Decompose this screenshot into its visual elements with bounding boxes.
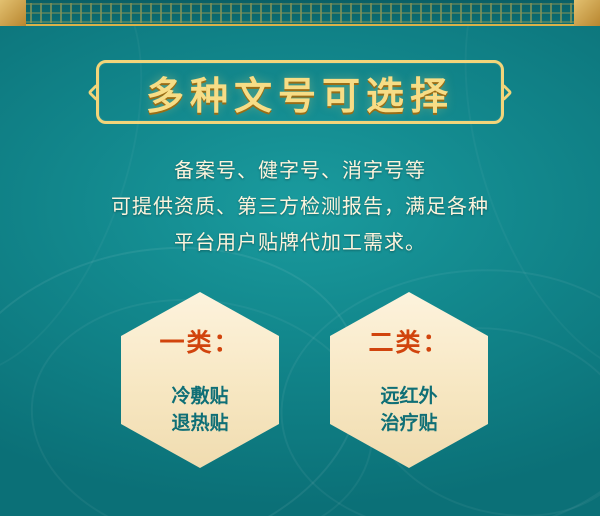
description-line-1: 备案号、健字号、消字号等	[40, 152, 560, 188]
border-pattern-icon	[0, 3, 600, 23]
border-corner-right-icon	[574, 0, 600, 26]
category-card-two-item-1: 远红外	[380, 383, 437, 410]
category-card-one: 一类： 冷敷贴 退热贴	[121, 292, 279, 468]
description-block: 备案号、健字号、消字号等 可提供资质、第三方检测报告，满足各种 平台用户贴牌代加…	[40, 152, 560, 260]
description-line-2: 可提供资质、第三方检测报告，满足各种	[40, 188, 560, 224]
category-card-one-item-2: 退热贴	[171, 410, 228, 437]
border-corner-left-icon	[0, 0, 26, 26]
poster-canvas: 多种文号可选择 备案号、健字号、消字号等 可提供资质、第三方检测报告，满足各种 …	[0, 0, 600, 516]
page-title: 多种文号可选择	[96, 60, 504, 124]
title-plate: 多种文号可选择	[96, 60, 504, 124]
description-line-3: 平台用户贴牌代加工需求。	[40, 224, 560, 260]
category-card-one-item-1: 冷敷贴	[171, 383, 228, 410]
category-card-two-heading: 二类：	[368, 323, 449, 359]
category-card-two-item-2: 治疗贴	[380, 410, 437, 437]
category-card-two: 二类： 远红外 治疗贴	[330, 292, 488, 468]
ornamental-top-border	[0, 0, 600, 26]
category-cards: 一类： 冷敷贴 退热贴 二类： 远红外 治疗贴	[0, 292, 600, 472]
category-card-one-heading: 一类：	[159, 323, 240, 359]
